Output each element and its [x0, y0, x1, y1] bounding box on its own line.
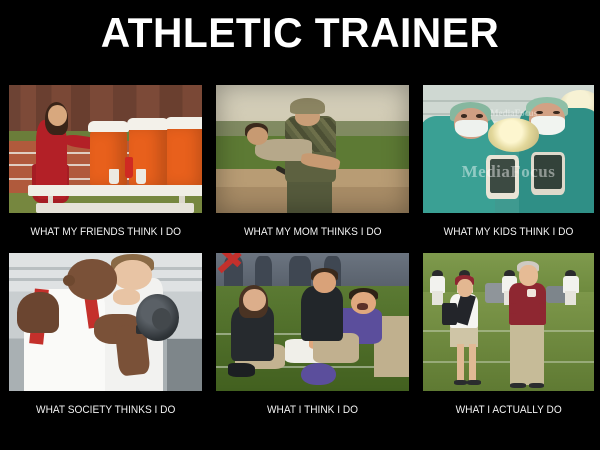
woman-leg [457, 344, 464, 383]
panel-caption: WHAT MY FRIENDS THINK I DO [30, 213, 181, 239]
photo-friends [9, 85, 202, 213]
legs [565, 291, 576, 305]
panel-caption: WHAT I ACTUALLY DO [455, 391, 561, 417]
photo-society [9, 253, 202, 391]
yard-line [423, 330, 594, 332]
man-head [519, 265, 538, 286]
trainer-shoe [228, 363, 255, 377]
male-trainer-head [313, 272, 336, 293]
meme-image: ATHLETIC TRAINER [0, 0, 600, 450]
client-ear [63, 275, 75, 286]
panel-i-think: WHAT I THINK I DO [216, 253, 409, 435]
medical-kit-bag [442, 303, 457, 325]
panel-caption: WHAT SOCIETY THINKS I DO [36, 391, 175, 417]
female-trainer-head [243, 289, 266, 311]
crowd-figure [289, 256, 310, 289]
man-crossed-arms [509, 303, 547, 314]
panel-society: WHAT SOCIETY THINKS I DO [9, 253, 202, 435]
yard-line [423, 361, 594, 363]
panel-grid: WHAT MY FRIENDS THINK I DO [9, 85, 594, 435]
water-bottle [125, 157, 133, 179]
background-player [563, 270, 578, 306]
panel-caption: WHAT MY KIDS THINK I DO [444, 213, 574, 239]
photo-actually [423, 253, 594, 391]
shoe [510, 383, 525, 389]
cooler-lid [165, 117, 202, 129]
bench-rail [36, 203, 194, 213]
panel-caption: WHAT I THINK I DO [267, 391, 358, 417]
football-helmet [301, 363, 336, 385]
gym-equipment [167, 339, 202, 391]
shoe [529, 383, 544, 389]
panel-kids: MediaFocus MediaFocus WHAT MY KIDS THINK… [423, 85, 594, 253]
polo-logo [527, 289, 536, 297]
girl-head [48, 105, 67, 125]
watermark-mediafocus: MediaFocus [423, 162, 594, 182]
panel-actually: WHAT I ACTUALLY DO [423, 253, 594, 435]
client-shoulder [17, 292, 59, 333]
player-grimace [357, 303, 369, 310]
woman-leg [469, 344, 476, 383]
jersey [563, 276, 578, 293]
woman-head [457, 279, 472, 297]
water-cooler [167, 125, 202, 188]
panel-friends: WHAT MY FRIENDS THINK I DO [9, 85, 202, 253]
trainer-hand-on-shoulder [113, 289, 140, 306]
photo-kids: MediaFocus MediaFocus [423, 85, 594, 213]
panel-row-bottom: WHAT SOCIETY THINKS I DO [9, 253, 594, 435]
water-cooler [129, 126, 168, 187]
man-khaki-pants [510, 322, 544, 385]
watermark-small: MediaFocus [471, 108, 557, 118]
panel-mom: WHAT MY MOM THINKS I DO [216, 85, 409, 253]
shoe [454, 380, 468, 386]
cooler-lid [88, 121, 129, 133]
surgical-lamp [488, 118, 539, 151]
bench-rail [28, 185, 202, 197]
vignette-overlay [216, 85, 409, 213]
paper-cup [136, 169, 146, 183]
shoe [467, 380, 481, 386]
page-title: ATHLETIC TRAINER [9, 8, 591, 58]
panel-row-top: WHAT MY FRIENDS THINK I DO [9, 85, 594, 253]
male-trainer-body [301, 286, 343, 341]
surgical-mask [455, 120, 487, 138]
crowd-figure [255, 256, 272, 289]
trainer-head [113, 260, 152, 290]
jersey [430, 276, 445, 293]
paper-cup [109, 169, 119, 183]
background-player [430, 270, 445, 306]
cooler-lid [127, 118, 169, 130]
panel-caption: WHAT MY MOM THINKS I DO [244, 213, 382, 239]
photo-mom [216, 85, 409, 213]
photo-i-think [216, 253, 409, 391]
